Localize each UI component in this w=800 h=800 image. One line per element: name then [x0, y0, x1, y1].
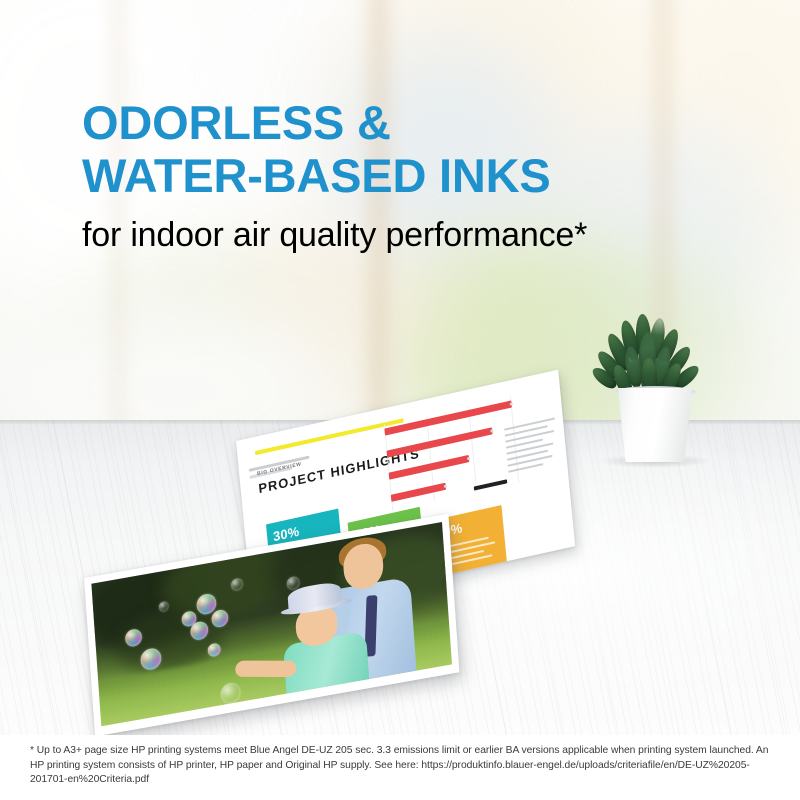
brochure-text-block: [504, 417, 559, 476]
chart-bar: [389, 455, 470, 480]
marketing-image: BIG OVERVIEW PROJECT HIGHLIGHTS 30% 90%: [0, 0, 800, 800]
page-title: ODORLESS & WATER-BASED INKS: [82, 96, 722, 202]
soap-bubble: [207, 642, 221, 657]
soap-bubble: [211, 609, 229, 629]
chart-bar: [387, 427, 493, 457]
page-subtitle: for indoor air quality performance*: [82, 215, 762, 255]
brochure-bar-chart: [384, 396, 519, 510]
footnote-text: * Up to A3+ page size HP printing system…: [30, 744, 775, 788]
potted-plant: [592, 312, 716, 462]
chart-bar: [391, 483, 446, 502]
plant-pot: [614, 388, 696, 462]
